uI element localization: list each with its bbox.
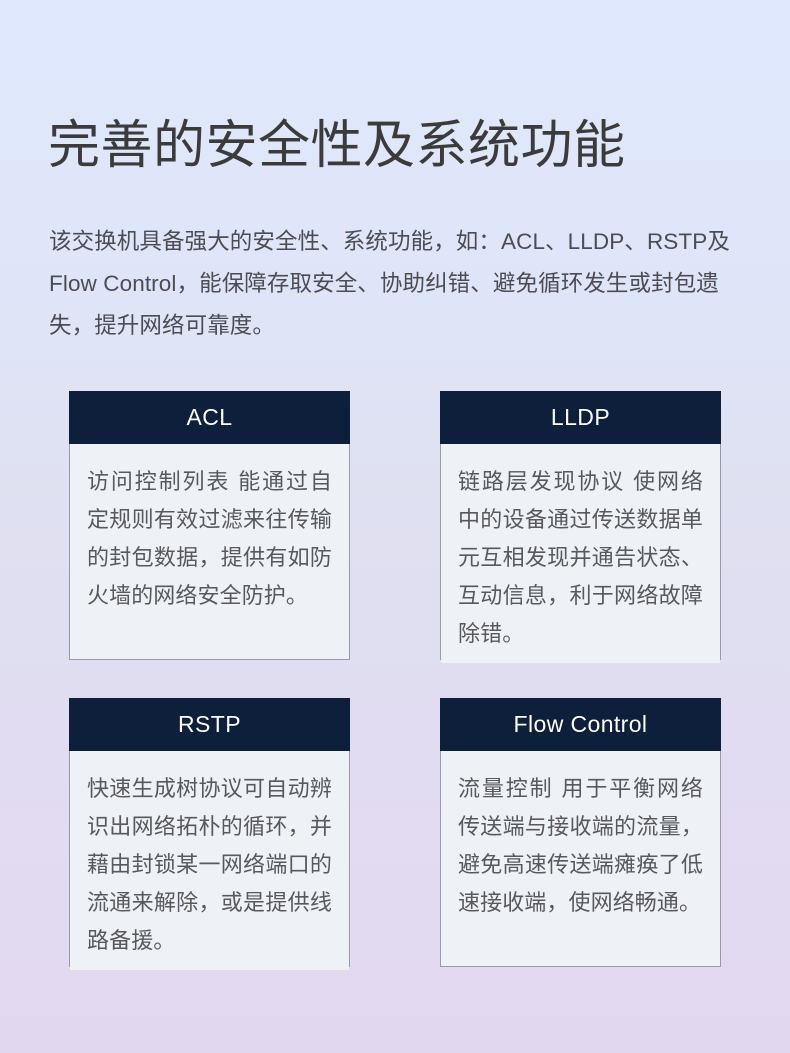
card-title-flow-control: Flow Control — [514, 713, 648, 736]
card-header-rstp: RSTP — [69, 698, 350, 751]
card-description-rstp: 快速生成树协议可自动辨识出网络拓朴的循环，并藉由封锁某一网络端口的流通来解除，或… — [87, 770, 332, 960]
feature-card-grid: ACL 访问控制列表 能通过自定规则有效过滤来往传输的封包数据，提供有如防火墙的… — [69, 391, 721, 967]
card-body-flow-control: 流量控制 用于平衡网络传送端与接收端的流量，避免高速传送端瘫痪了低速接收端，使网… — [441, 751, 720, 966]
feature-card-rstp: RSTP 快速生成树协议可自动辨识出网络拓朴的循环，并藉由封锁某一网络端口的流通… — [69, 698, 350, 967]
intro-paragraph: 该交换机具备强大的安全性、系统功能，如：ACL、LLDP、RSTP及 Flow … — [49, 221, 755, 347]
feature-card-lldp: LLDP 链路层发现协议 使网络中的设备通过传送数据单元互相发现并通告状态、互动… — [440, 391, 721, 660]
card-title-acl: ACL — [187, 406, 233, 429]
card-body-lldp: 链路层发现协议 使网络中的设备通过传送数据单元互相发现并通告状态、互动信息，利于… — [441, 444, 720, 663]
card-body-acl: 访问控制列表 能通过自定规则有效过滤来往传输的封包数据，提供有如防火墙的网络安全… — [70, 444, 349, 659]
feature-card-acl: ACL 访问控制列表 能通过自定规则有效过滤来往传输的封包数据，提供有如防火墙的… — [69, 391, 350, 660]
card-title-lldp: LLDP — [551, 406, 610, 429]
card-header-acl: ACL — [69, 391, 350, 444]
card-title-rstp: RSTP — [178, 713, 241, 736]
feature-card-flow-control: Flow Control 流量控制 用于平衡网络传送端与接收端的流量，避免高速传… — [440, 698, 721, 967]
card-description-lldp: 链路层发现协议 使网络中的设备通过传送数据单元互相发现并通告状态、互动信息，利于… — [458, 463, 703, 653]
card-header-flow-control: Flow Control — [440, 698, 721, 751]
card-description-acl: 访问控制列表 能通过自定规则有效过滤来往传输的封包数据，提供有如防火墙的网络安全… — [87, 463, 332, 615]
page-title: 完善的安全性及系统功能 — [48, 115, 626, 177]
feature-page: 完善的安全性及系统功能 该交换机具备强大的安全性、系统功能，如：ACL、LLDP… — [0, 0, 790, 1053]
card-body-rstp: 快速生成树协议可自动辨识出网络拓朴的循环，并藉由封锁某一网络端口的流通来解除，或… — [70, 751, 349, 970]
card-header-lldp: LLDP — [440, 391, 721, 444]
card-description-flow-control: 流量控制 用于平衡网络传送端与接收端的流量，避免高速传送端瘫痪了低速接收端，使网… — [458, 770, 703, 922]
